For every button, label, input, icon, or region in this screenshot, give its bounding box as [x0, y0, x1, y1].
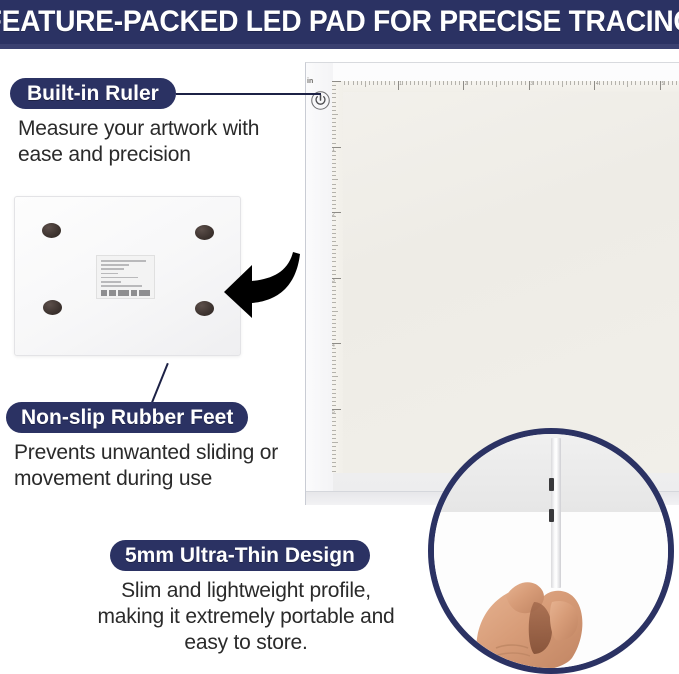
- leader-line-rubber-feet: [150, 363, 169, 405]
- hand-holding-pad: [472, 544, 622, 674]
- callout-badge-ultra-thin-design: 5mm Ultra-Thin Design: [110, 540, 370, 571]
- back-panel-photo: [14, 196, 241, 356]
- horizontal-ruler: 12345: [332, 81, 679, 92]
- ruler-unit-label: in: [307, 78, 313, 85]
- thin-edge-inset-photo: [428, 428, 674, 674]
- page-title: FEATURE-PACKED LED PAD FOR PRECISE TRACI…: [0, 7, 679, 37]
- callout-badge-non-slip-rubber-feet: Non-slip Rubber Feet: [6, 402, 248, 433]
- vertical-ruler: 123456: [332, 81, 343, 473]
- header-bar: FEATURE-PACKED LED PAD FOR PRECISE TRACI…: [0, 0, 679, 44]
- rubber-foot: [42, 223, 61, 238]
- header-underline: [0, 44, 679, 49]
- leader-line-ruler: [176, 93, 321, 95]
- rubber-foot: [43, 300, 62, 315]
- callout-text-built-in-ruler: Measure your artwork with ease and preci…: [18, 116, 298, 168]
- certification-marks: [101, 290, 150, 296]
- edge-port-marker: [549, 509, 554, 522]
- callout-text-non-slip-rubber-feet: Prevents unwanted sliding or movement du…: [14, 440, 306, 492]
- pad-left-frame: [306, 63, 333, 505]
- curved-arrow-icon: [222, 248, 304, 322]
- product-spec-label: [96, 255, 155, 299]
- callout-text-ultra-thin-design: Slim and lightweight profile, making it …: [86, 578, 406, 656]
- edge-port-marker: [549, 478, 554, 491]
- rubber-foot: [195, 301, 214, 316]
- callout-badge-built-in-ruler: Built-in Ruler: [10, 78, 176, 109]
- rubber-foot: [195, 225, 214, 240]
- pad-illuminated-surface: [332, 81, 679, 473]
